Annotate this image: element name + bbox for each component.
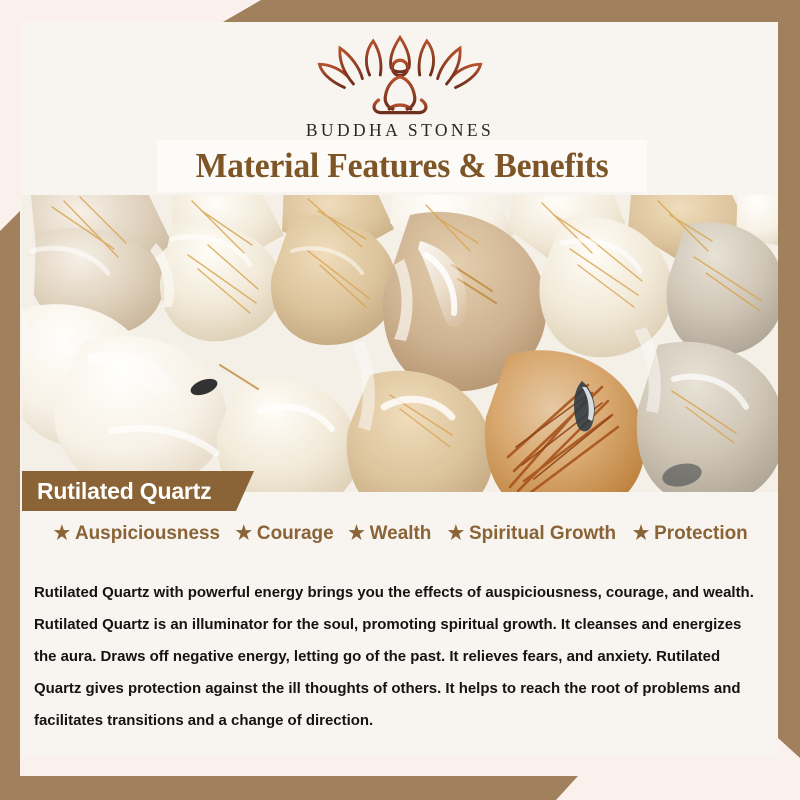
star-icon: ★ — [448, 524, 465, 543]
page-title: Material Features & Benefits — [157, 140, 647, 192]
brand-name: BUDDHA STONES — [306, 120, 494, 141]
star-icon: ★ — [349, 524, 366, 543]
star-icon: ★ — [633, 524, 650, 543]
star-icon: ★ — [236, 524, 253, 543]
star-icon: ★ — [53, 524, 70, 543]
description-text: Rutilated Quartz with powerful energy br… — [34, 577, 761, 737]
poster-root: BUDDHA STONES Material Features & Benefi… — [0, 0, 800, 800]
feature-item-protection: ★ Protection — [627, 522, 754, 545]
brand-logo: BUDDHA STONES — [22, 32, 778, 141]
product-photo — [22, 195, 778, 492]
feature-item-spiritual-growth: ★ Spiritual Growth — [442, 522, 622, 545]
feature-label: Protection — [654, 522, 748, 545]
poster-card: BUDDHA STONES Material Features & Benefi… — [22, 22, 778, 757]
feature-list: ★ Auspiciousness ★ Courage ★ Wealth ★ Sp… — [22, 522, 778, 545]
feature-item-auspiciousness: ★ Auspiciousness — [47, 522, 225, 545]
feature-label: Courage — [257, 522, 334, 545]
feature-item-courage: ★ Courage — [230, 522, 340, 545]
feature-item-wealth: ★ Wealth — [343, 522, 438, 545]
page-title-text: Material Features & Benefits — [196, 146, 609, 186]
feature-label: Spiritual Growth — [469, 522, 616, 545]
frame-band-right — [778, 0, 800, 758]
frame-band-bottom — [0, 776, 578, 800]
lotus-meditation-logo-icon — [310, 32, 490, 118]
frame-band-left — [0, 211, 20, 776]
photo-caption-banner: Rutilated Quartz — [22, 471, 254, 511]
photo-caption-text: Rutilated Quartz — [22, 478, 211, 505]
feature-label: Auspiciousness — [75, 522, 220, 545]
feature-label: Wealth — [370, 522, 432, 545]
quartz-stones-illustration — [22, 195, 778, 492]
frame-band-top — [223, 0, 800, 22]
